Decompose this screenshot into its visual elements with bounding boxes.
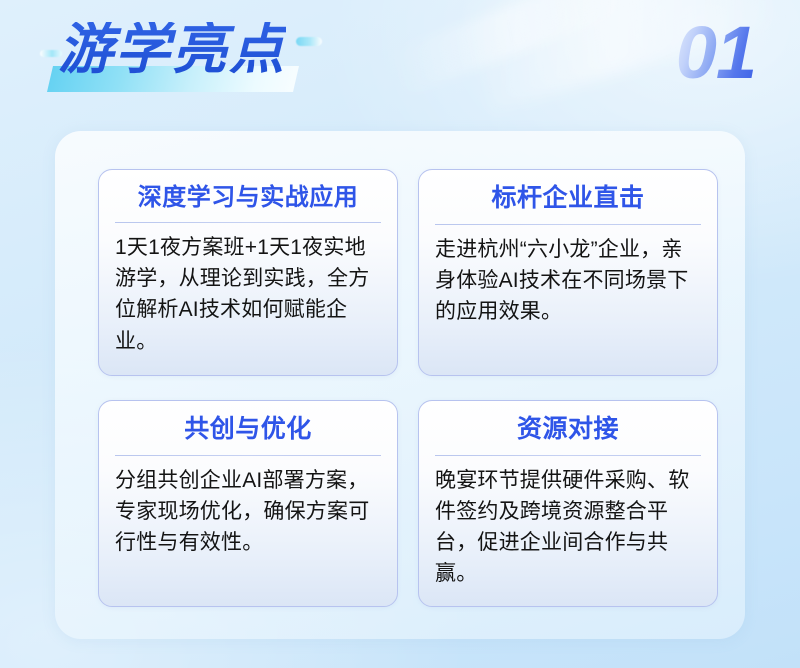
card-body: 分组共创企业AI部署方案，专家现场优化，确保方案可行性与有效性。: [115, 465, 381, 558]
highlight-card-grid: 深度学习与实战应用 1天1夜方案班+1天1夜实地游学，从理论到实践，全方位解析A…: [98, 169, 718, 607]
card-title: 共创与优化: [115, 415, 381, 445]
card-title: 资源对接: [435, 415, 701, 445]
highlights-panel: 深度学习与实战应用 1天1夜方案班+1天1夜实地游学，从理论到实践，全方位解析A…: [55, 131, 745, 639]
dash-right-icon: [296, 37, 322, 46]
card-body: 1天1夜方案班+1天1夜实地游学，从理论到实践，全方位解析AI技术如何赋能企业。: [115, 232, 381, 356]
card-title: 深度学习与实战应用: [115, 184, 381, 212]
card-body: 走进杭州“六小龙”企业，亲身体验AI技术在不同场景下的应用效果。: [435, 234, 701, 327]
header: 游学亮点 01: [0, 0, 800, 125]
card-body: 晚宴环节提供硬件采购、软件签约及跨境资源整合平台，促进企业间合作与共赢。: [435, 465, 701, 589]
card-title: 标杆企业直击: [435, 184, 701, 214]
highlight-card[interactable]: 资源对接 晚宴环节提供硬件采购、软件签约及跨境资源整合平台，促进企业间合作与共赢…: [418, 400, 718, 607]
card-divider: [115, 455, 381, 456]
highlight-card[interactable]: 标杆企业直击 走进杭州“六小龙”企业，亲身体验AI技术在不同场景下的应用效果。: [418, 169, 718, 376]
card-divider: [115, 222, 381, 223]
highlight-card[interactable]: 共创与优化 分组共创企业AI部署方案，专家现场优化，确保方案可行性与有效性。: [98, 400, 398, 607]
highlight-card[interactable]: 深度学习与实战应用 1天1夜方案班+1天1夜实地游学，从理论到实践，全方位解析A…: [98, 169, 398, 376]
card-divider: [435, 455, 701, 456]
poster-root: 游学亮点 01 深度学习与实战应用 1天1夜方案班+1天1夜实地游学，从理论到实…: [0, 0, 800, 668]
page-title: 游学亮点: [58, 22, 286, 77]
section-number: 01: [676, 16, 756, 90]
card-divider: [435, 224, 701, 225]
